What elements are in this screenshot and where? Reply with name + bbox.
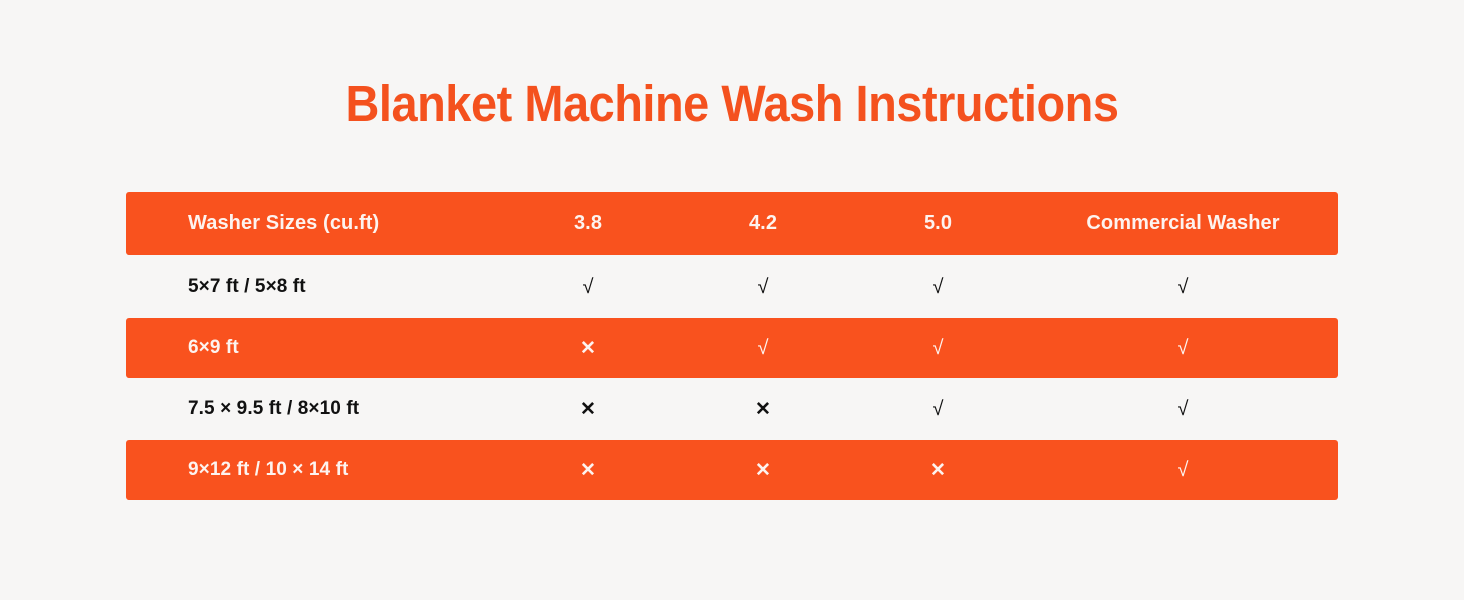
table-header-row: Washer Sizes (cu.ft) 3.8 4.2 5.0 Commerc… <box>126 192 1338 255</box>
cell-5-0: √ <box>848 276 1028 299</box>
cell-commercial-washer: √ <box>1028 398 1338 421</box>
cell-commercial-washer: √ <box>1028 459 1338 482</box>
page-canvas: Blanket Machine Wash Instructions Washer… <box>0 0 1464 600</box>
row-label: 9×12 ft / 10 × 14 ft <box>126 459 498 481</box>
row-label: 7.5 × 9.5 ft / 8×10 ft <box>126 398 498 420</box>
cell-3-8: ✕ <box>498 398 678 421</box>
column-header-3-8: 3.8 <box>498 212 678 235</box>
row-label: 5×7 ft / 5×8 ft <box>126 276 498 298</box>
cell-4-2: ✕ <box>678 398 848 421</box>
cell-3-8: ✕ <box>498 459 678 482</box>
cell-4-2: ✕ <box>678 459 848 482</box>
column-header-washer-sizes: Washer Sizes (cu.ft) <box>126 212 498 235</box>
column-header-commercial-washer: Commercial Washer <box>1028 212 1338 235</box>
cell-4-2: √ <box>678 276 848 299</box>
table-row: 7.5 × 9.5 ft / 8×10 ft ✕ ✕ √ √ <box>126 380 1338 438</box>
cell-commercial-washer: √ <box>1028 276 1338 299</box>
column-header-4-2: 4.2 <box>678 212 848 235</box>
washer-compatibility-table: Washer Sizes (cu.ft) 3.8 4.2 5.0 Commerc… <box>126 192 1338 502</box>
cell-3-8: √ <box>498 276 678 299</box>
table-row: 6×9 ft ✕ √ √ √ <box>126 318 1338 378</box>
table-row: 5×7 ft / 5×8 ft √ √ √ √ <box>126 258 1338 316</box>
page-title: Blanket Machine Wash Instructions <box>59 72 1406 136</box>
cell-5-0: √ <box>848 337 1028 360</box>
cell-3-8: ✕ <box>498 337 678 360</box>
cell-4-2: √ <box>678 337 848 360</box>
cell-5-0: √ <box>848 398 1028 421</box>
cell-commercial-washer: √ <box>1028 337 1338 360</box>
row-label: 6×9 ft <box>126 337 498 359</box>
table-row: 9×12 ft / 10 × 14 ft ✕ ✕ ✕ √ <box>126 440 1338 500</box>
cell-5-0: ✕ <box>848 459 1028 482</box>
column-header-5-0: 5.0 <box>848 212 1028 235</box>
